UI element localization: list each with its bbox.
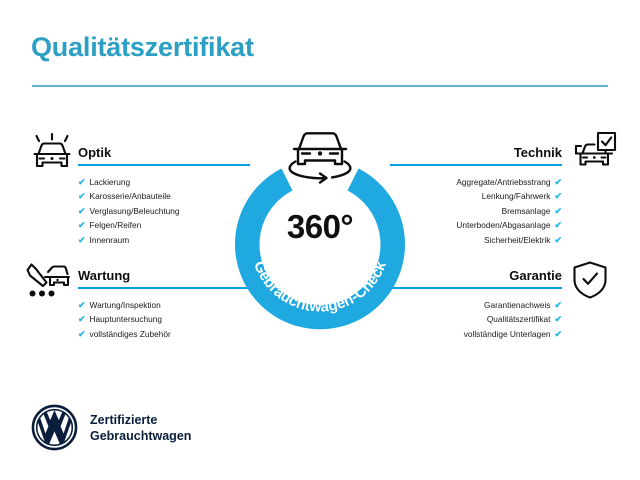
- list-item: Unterboden/Abgasanlage✔: [390, 218, 562, 232]
- section-wartung-divider: [78, 287, 250, 289]
- car-wrench-service-icon: [25, 260, 71, 302]
- list-item-label: Felgen/Reifen: [90, 220, 142, 230]
- check-icon: ✔: [78, 206, 86, 216]
- list-item-label: Verglasung/Beleuchtung: [90, 206, 180, 216]
- footer-line-2: Gebrauchtwagen: [90, 428, 191, 444]
- car-front-shine-icon: [29, 132, 75, 174]
- list-item: ✔Felgen/Reifen: [78, 218, 250, 232]
- footer-text: Zertifizierte Gebrauchtwagen: [90, 412, 191, 444]
- list-item: ✔vollständiges Zubehör: [78, 327, 250, 341]
- list-item: Lenkung/Fahrwerk✔: [390, 189, 562, 203]
- section-optik-list: ✔Lackierung ✔Karosserie/Anbauteile ✔Verg…: [78, 175, 250, 247]
- list-item-label: vollständiges Zubehör: [90, 329, 171, 339]
- list-item-label: Sicherheit/Elektrik: [484, 235, 550, 245]
- list-item: vollständige Unterlagen✔: [390, 327, 562, 341]
- list-item: ✔Innenraum: [78, 233, 250, 247]
- section-garantie-heading: Garantie: [390, 268, 562, 284]
- section-garantie-divider: [390, 287, 562, 289]
- list-item: Aggregate/Antriebsstrang✔: [390, 175, 562, 189]
- check-icon: ✔: [554, 314, 562, 324]
- section-optik: Optik ✔Lackierung ✔Karosserie/Anbauteile…: [78, 145, 250, 247]
- check-icon: ✔: [78, 177, 86, 187]
- check-icon: ✔: [554, 177, 562, 187]
- car-rotate-360-icon: [281, 123, 359, 185]
- badge-center-label: 360°: [230, 208, 410, 246]
- check-icon: ✔: [78, 191, 86, 201]
- list-item: ✔Hauptuntersuchung: [78, 312, 250, 326]
- list-item-label: Lackierung: [90, 177, 131, 187]
- check-icon: ✔: [554, 220, 562, 230]
- check-icon: ✔: [78, 329, 86, 339]
- check-icon: ✔: [554, 235, 562, 245]
- list-item-label: Wartung/Inspektion: [90, 300, 161, 310]
- list-item: ✔Karosserie/Anbauteile: [78, 189, 250, 203]
- check-icon: ✔: [78, 220, 86, 230]
- car-checkbox-icon: [572, 130, 618, 172]
- section-wartung-list: ✔Wartung/Inspektion ✔Hauptuntersuchung ✔…: [78, 298, 250, 341]
- check-icon: ✔: [78, 300, 86, 310]
- list-item-label: Garantienachweis: [484, 300, 550, 310]
- page-title: Qualitätszertifikat: [31, 32, 254, 63]
- list-item-label: Lenkung/Fahrwerk: [482, 191, 551, 201]
- check-icon: ✔: [554, 206, 562, 216]
- check-icon: ✔: [554, 300, 562, 310]
- section-wartung-heading: Wartung: [78, 268, 250, 284]
- list-item: ✔Wartung/Inspektion: [78, 298, 250, 312]
- vw-logo: [31, 404, 78, 451]
- list-item-label: Bremsanlage: [502, 206, 551, 216]
- list-item: ✔Lackierung: [78, 175, 250, 189]
- section-technik-divider: [390, 164, 562, 166]
- title-divider: [32, 85, 608, 87]
- list-item: Bremsanlage✔: [390, 204, 562, 218]
- section-technik-heading: Technik: [390, 145, 562, 161]
- list-item: Qualitätszertifikat✔: [390, 312, 562, 326]
- list-item-label: Qualitätszertifikat: [487, 314, 551, 324]
- check-icon: ✔: [78, 314, 86, 324]
- 360-check-badge: Gebrauchtwagen-Check 360°: [230, 152, 410, 332]
- shield-check-icon: [567, 259, 613, 301]
- section-technik: Technik Aggregate/Antriebsstrang✔ Lenkun…: [390, 145, 562, 247]
- footer-line-1: Zertifizierte: [90, 412, 191, 428]
- list-item-label: Innenraum: [90, 235, 130, 245]
- list-item-label: Aggregate/Antriebsstrang: [456, 177, 550, 187]
- list-item-label: Unterboden/Abgasanlage: [456, 220, 550, 230]
- check-icon: ✔: [554, 329, 562, 339]
- list-item-label: vollständige Unterlagen: [464, 329, 551, 339]
- check-icon: ✔: [78, 235, 86, 245]
- section-optik-heading: Optik: [78, 145, 250, 161]
- section-wartung: Wartung ✔Wartung/Inspektion ✔Hauptunters…: [78, 268, 250, 341]
- section-optik-divider: [78, 164, 250, 166]
- section-garantie: Garantie Garantienachweis✔ Qualitätszert…: [390, 268, 562, 341]
- vw-certified-lockup: Zertifizierte Gebrauchtwagen: [31, 404, 191, 451]
- section-garantie-list: Garantienachweis✔ Qualitätszertifikat✔ v…: [390, 298, 562, 341]
- section-technik-list: Aggregate/Antriebsstrang✔ Lenkung/Fahrwe…: [390, 175, 562, 247]
- list-item-label: Hauptuntersuchung: [90, 314, 162, 324]
- list-item: Sicherheit/Elektrik✔: [390, 233, 562, 247]
- check-icon: ✔: [554, 191, 562, 201]
- list-item: Garantienachweis✔: [390, 298, 562, 312]
- list-item: ✔Verglasung/Beleuchtung: [78, 204, 250, 218]
- list-item-label: Karosserie/Anbauteile: [90, 191, 171, 201]
